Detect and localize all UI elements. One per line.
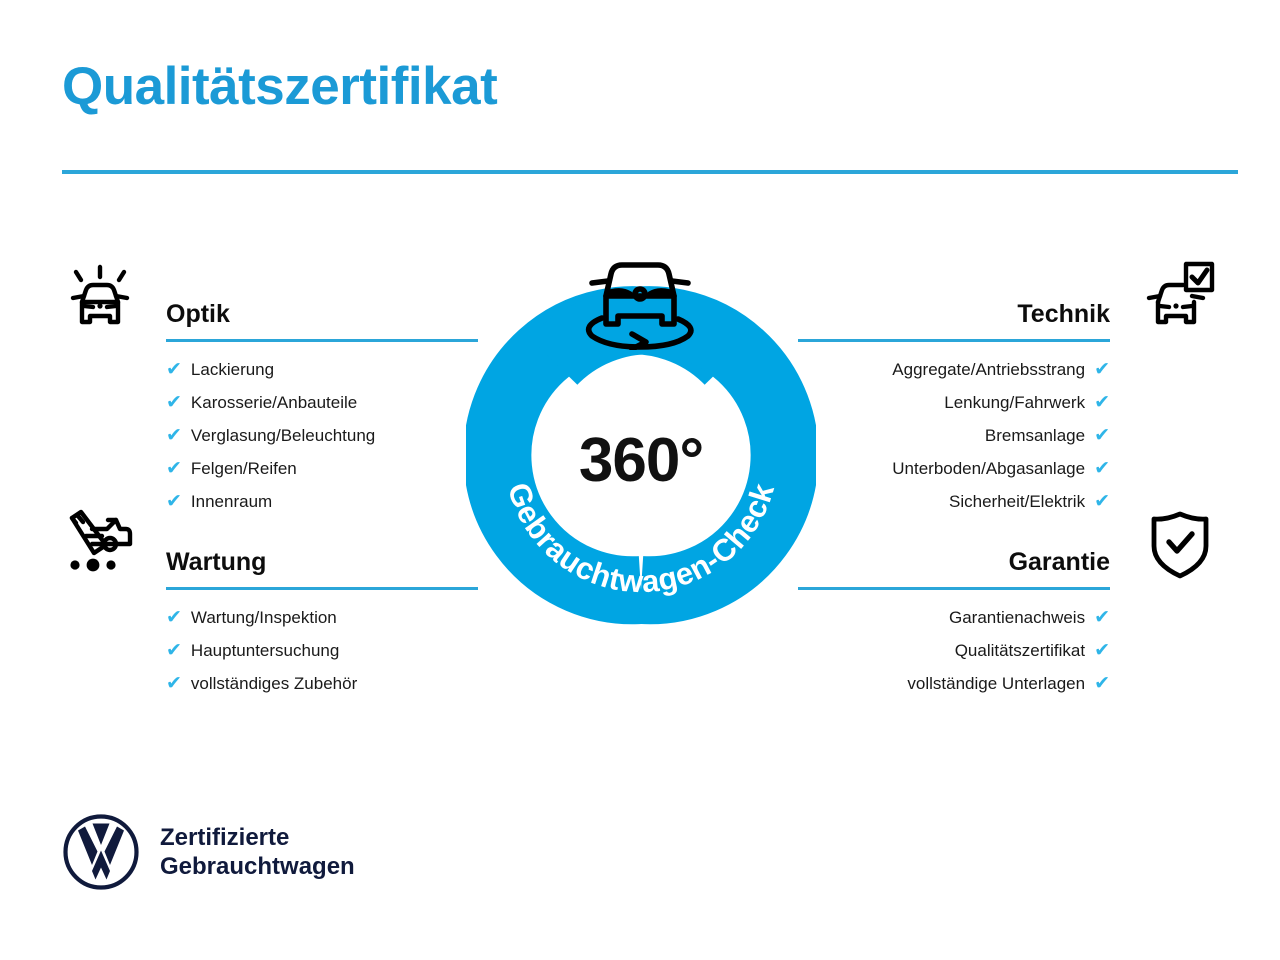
check-icon: ✔: [166, 674, 182, 693]
list-item-label: vollständige Unterlagen: [907, 675, 1085, 692]
section-garantie-body: Garantie Garantienachweis✔ Qualitätszert…: [798, 506, 1110, 707]
check-icon: ✔: [166, 459, 182, 478]
certificate-page: Qualitätszertifikat Optik ✔Lackierung: [0, 0, 1280, 960]
list-item: ✔Wartung/Inspektion: [166, 608, 478, 627]
list-item-label: Felgen/Reifen: [191, 460, 297, 477]
list-item: ✔vollständiges Zubehör: [166, 674, 478, 693]
page-title: Qualitätszertifikat: [62, 58, 497, 116]
list-item-label: Karosserie/Anbauteile: [191, 394, 357, 411]
list-item: ✔Verglasung/Beleuchtung: [166, 426, 478, 445]
section-title-optik: Optik: [166, 258, 478, 327]
list-item-label: Lackierung: [191, 361, 274, 378]
badge-center-label: 360°: [466, 430, 816, 492]
header-divider: [62, 170, 1238, 174]
car-shine-icon: [62, 258, 138, 334]
check-icon: ✔: [166, 393, 182, 412]
check-icon: ✔: [1094, 641, 1110, 660]
car-rotate-360-icon: [570, 252, 710, 350]
list-item-label: Hauptuntersuchung: [191, 642, 339, 659]
list-item-label: Aggregate/Antriebsstrang: [892, 361, 1085, 378]
gebrauchtwagen-check-badge: Gebrauchtwagen-Check 360°: [466, 250, 816, 640]
check-icon: ✔: [166, 641, 182, 660]
vw-logo-line1: Zertifizierte: [160, 824, 289, 851]
vw-certified-logo: Zertifizierte Gebrauchtwagen: [62, 813, 355, 891]
list-item: ✔Karosserie/Anbauteile: [166, 393, 478, 412]
list-item-label: Qualitätszertifikat: [955, 642, 1085, 659]
list-item-label: Lenkung/Fahrwerk: [944, 394, 1085, 411]
list-item-label: Verglasung/Beleuchtung: [191, 427, 375, 444]
list-item: Garantienachweis✔: [798, 608, 1110, 627]
section-divider-wartung: [166, 587, 478, 590]
section-title-technik: Technik: [798, 258, 1110, 327]
section-divider-optik: [166, 339, 478, 342]
section-list-wartung: ✔Wartung/Inspektion ✔Hauptuntersuchung ✔…: [166, 608, 478, 693]
list-item: ✔Lackierung: [166, 360, 478, 379]
car-service-pen-icon: [62, 506, 138, 582]
list-item-label: vollständiges Zubehör: [191, 675, 357, 692]
list-item: vollständige Unterlagen✔: [798, 674, 1110, 693]
shield-check-icon: [1142, 506, 1218, 582]
list-item: Aggregate/Antriebsstrang✔: [798, 360, 1110, 379]
list-item: Bremsanlage✔: [798, 426, 1110, 445]
check-icon: ✔: [1094, 393, 1110, 412]
check-icon: ✔: [166, 426, 182, 445]
check-icon: ✔: [1094, 459, 1110, 478]
check-icon: ✔: [166, 608, 182, 627]
section-optik-body: Optik ✔Lackierung ✔Karosserie/Anbauteile…: [166, 258, 478, 525]
vw-logo-text: Zertifizierte Gebrauchtwagen: [160, 823, 355, 882]
list-item-label: Bremsanlage: [985, 427, 1085, 444]
check-icon: ✔: [1094, 360, 1110, 379]
section-wartung-body: Wartung ✔Wartung/Inspektion ✔Hauptunters…: [166, 506, 478, 707]
check-icon: ✔: [1094, 674, 1110, 693]
list-item: ✔Hauptuntersuchung: [166, 641, 478, 660]
check-icon: ✔: [166, 360, 182, 379]
list-item-label: Garantienachweis: [949, 609, 1085, 626]
list-item-label: Wartung/Inspektion: [191, 609, 337, 626]
list-item: Lenkung/Fahrwerk✔: [798, 393, 1110, 412]
list-item: Qualitätszertifikat✔: [798, 641, 1110, 660]
list-item-label: Unterboden/Abgasanlage: [892, 460, 1085, 477]
section-title-wartung: Wartung: [166, 506, 478, 575]
section-list-optik: ✔Lackierung ✔Karosserie/Anbauteile ✔Verg…: [166, 360, 478, 511]
section-title-garantie: Garantie: [798, 506, 1110, 575]
list-item: ✔Felgen/Reifen: [166, 459, 478, 478]
car-checkbox-icon: [1142, 258, 1218, 334]
check-icon: ✔: [1094, 608, 1110, 627]
section-technik-body: Technik Aggregate/Antriebsstrang✔ Lenkun…: [798, 258, 1110, 525]
section-list-technik: Aggregate/Antriebsstrang✔ Lenkung/Fahrwe…: [798, 360, 1110, 511]
section-list-garantie: Garantienachweis✔ Qualitätszertifikat✔ v…: [798, 608, 1110, 693]
vw-logo-line2: Gebrauchtwagen: [160, 852, 355, 881]
section-divider-garantie: [798, 587, 1110, 590]
check-icon: ✔: [1094, 426, 1110, 445]
list-item: Unterboden/Abgasanlage✔: [798, 459, 1110, 478]
vw-logo-icon: [62, 813, 140, 891]
section-divider-technik: [798, 339, 1110, 342]
